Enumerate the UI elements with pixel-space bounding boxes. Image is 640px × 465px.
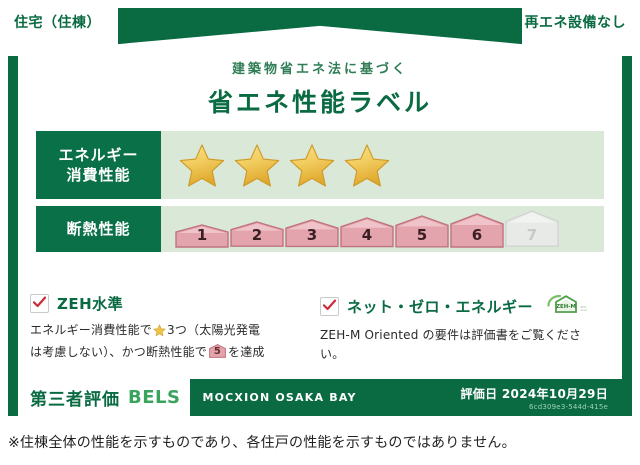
building-type-tag: 住宅（住棟） — [14, 12, 101, 32]
energy-consumption-label: エネルギー 消費性能 — [36, 131, 161, 199]
evaluation-date-value: 2024年10月29日 — [502, 387, 608, 401]
insulation-level-number: 6 — [450, 226, 504, 244]
evaluation-date-label: 評価日 — [461, 387, 498, 401]
criteria-section: ZEH水準 エネルギー消費性能で3つ（太陽光発電は考慮しない）、かつ断熱性能で5… — [30, 293, 610, 363]
evaluation-date-block: 評価日 2024年10月29日 6cd309e3-544d-415e — [461, 385, 623, 411]
bels-badge: 第三者評価 BELS — [18, 379, 190, 416]
insulation-level-2: 2 — [230, 221, 284, 247]
star-icon — [289, 143, 335, 187]
zehm-description: ZEH-M Oriented の要件は評価書をご覧ください。 — [320, 326, 600, 363]
title-subtitle: 建築物省エネ法に基づく — [0, 58, 640, 77]
star-icon — [234, 143, 280, 187]
insulation-level-6: 6 — [450, 213, 504, 248]
zeh-heading: ZEH水準 — [30, 293, 310, 314]
insulation-level-4: 4 — [340, 217, 394, 248]
insulation-value: 1234567 — [161, 206, 604, 252]
insulation-level-number: 3 — [285, 226, 339, 244]
insulation-level-5: 5 — [395, 215, 449, 248]
zeh-m-logo-icon: ZEH-M ZEH-M Oriented — [545, 293, 587, 319]
zeh-text-1: エネルギー消費性能で — [30, 323, 152, 337]
insulation-level-number: 7 — [505, 226, 559, 244]
zehm-criterion: ネット・ゼロ・エネルギー ZEH-M ZEH-M Oriented ZEH-M … — [320, 293, 610, 363]
insulation-level-number: 2 — [230, 226, 284, 244]
bels-en-label: BELS — [128, 387, 180, 408]
insulation-level-number: 4 — [340, 226, 394, 244]
project-name: MOCXION OSAKA BAY — [202, 391, 356, 404]
title-main: 省エネ性能ラベル — [0, 83, 640, 119]
star-rating — [161, 143, 390, 187]
svg-text:ZEH-M: ZEH-M — [556, 304, 576, 310]
energy-label-line1: エネルギー — [58, 145, 138, 165]
bels-footer: 第三者評価 BELS MOCXION OSAKA BAY 評価日 2024年10… — [18, 379, 622, 416]
zeh-checkbox[interactable] — [30, 294, 49, 313]
insulation-scale: 1234567 — [161, 210, 559, 247]
bels-jp-label: 第三者評価 — [30, 385, 120, 410]
energy-performance-label: 住宅（住棟） 再エネ設備なし 建築物省エネ法に基づく 省エネ性能ラベル エネルギ… — [0, 0, 640, 465]
insulation-level-3: 3 — [285, 219, 339, 247]
evaluation-date: 評価日 2024年10月29日 — [461, 385, 609, 402]
energy-label-line2: 消費性能 — [66, 165, 130, 185]
zehm-heading: ネット・ゼロ・エネルギー ZEH-M ZEH-M Oriented — [320, 293, 600, 319]
zeh-criterion: ZEH水準 エネルギー消費性能で3つ（太陽光発電は考慮しない）、かつ断熱性能で5… — [30, 293, 320, 363]
zehm-checkbox[interactable] — [320, 297, 339, 316]
zeh-text-4: を達成 — [228, 345, 265, 359]
zeh-description: エネルギー消費性能で3つ（太陽光発電は考慮しない）、かつ断熱性能で5を達成 — [30, 321, 310, 361]
zehm-title: ネット・ゼロ・エネルギー — [347, 296, 533, 317]
insulation-level-number: 1 — [175, 226, 229, 244]
energy-consumption-row: エネルギー 消費性能 — [36, 131, 604, 199]
inline-level-badge: 5 — [209, 344, 226, 358]
zeh-title: ZEH水準 — [57, 293, 123, 314]
star-icon — [344, 143, 390, 187]
performance-rows: エネルギー 消費性能 断熱性能 1234567 — [36, 131, 604, 259]
energy-consumption-value — [161, 131, 604, 199]
insulation-label: 断熱性能 — [36, 206, 161, 252]
insulation-level-number: 5 — [395, 226, 449, 244]
star-icon — [179, 143, 225, 187]
inline-badge-number: 5 — [209, 346, 226, 358]
insulation-level-1: 1 — [175, 224, 229, 248]
zeh-text-2: 3つ（太陽光発電 — [167, 323, 260, 337]
svg-text:Oriented: Oriented — [581, 308, 588, 312]
inline-star-icon — [153, 326, 166, 340]
renewable-energy-tag: 再エネ設備なし — [525, 12, 627, 32]
zeh-text-3: は考慮しない）、かつ断熱性能で — [30, 345, 207, 359]
label-title-block: 建築物省エネ法に基づく 省エネ性能ラベル — [0, 58, 640, 119]
evaluation-id: 6cd309e3-544d-415e — [461, 403, 609, 411]
insulation-row: 断熱性能 1234567 — [36, 206, 604, 252]
insulation-level-7: 7 — [505, 210, 559, 247]
disclaimer-text: ※住棟全体の性能を示すものであり、各住戸の性能を示すものではありません。 — [8, 432, 632, 452]
